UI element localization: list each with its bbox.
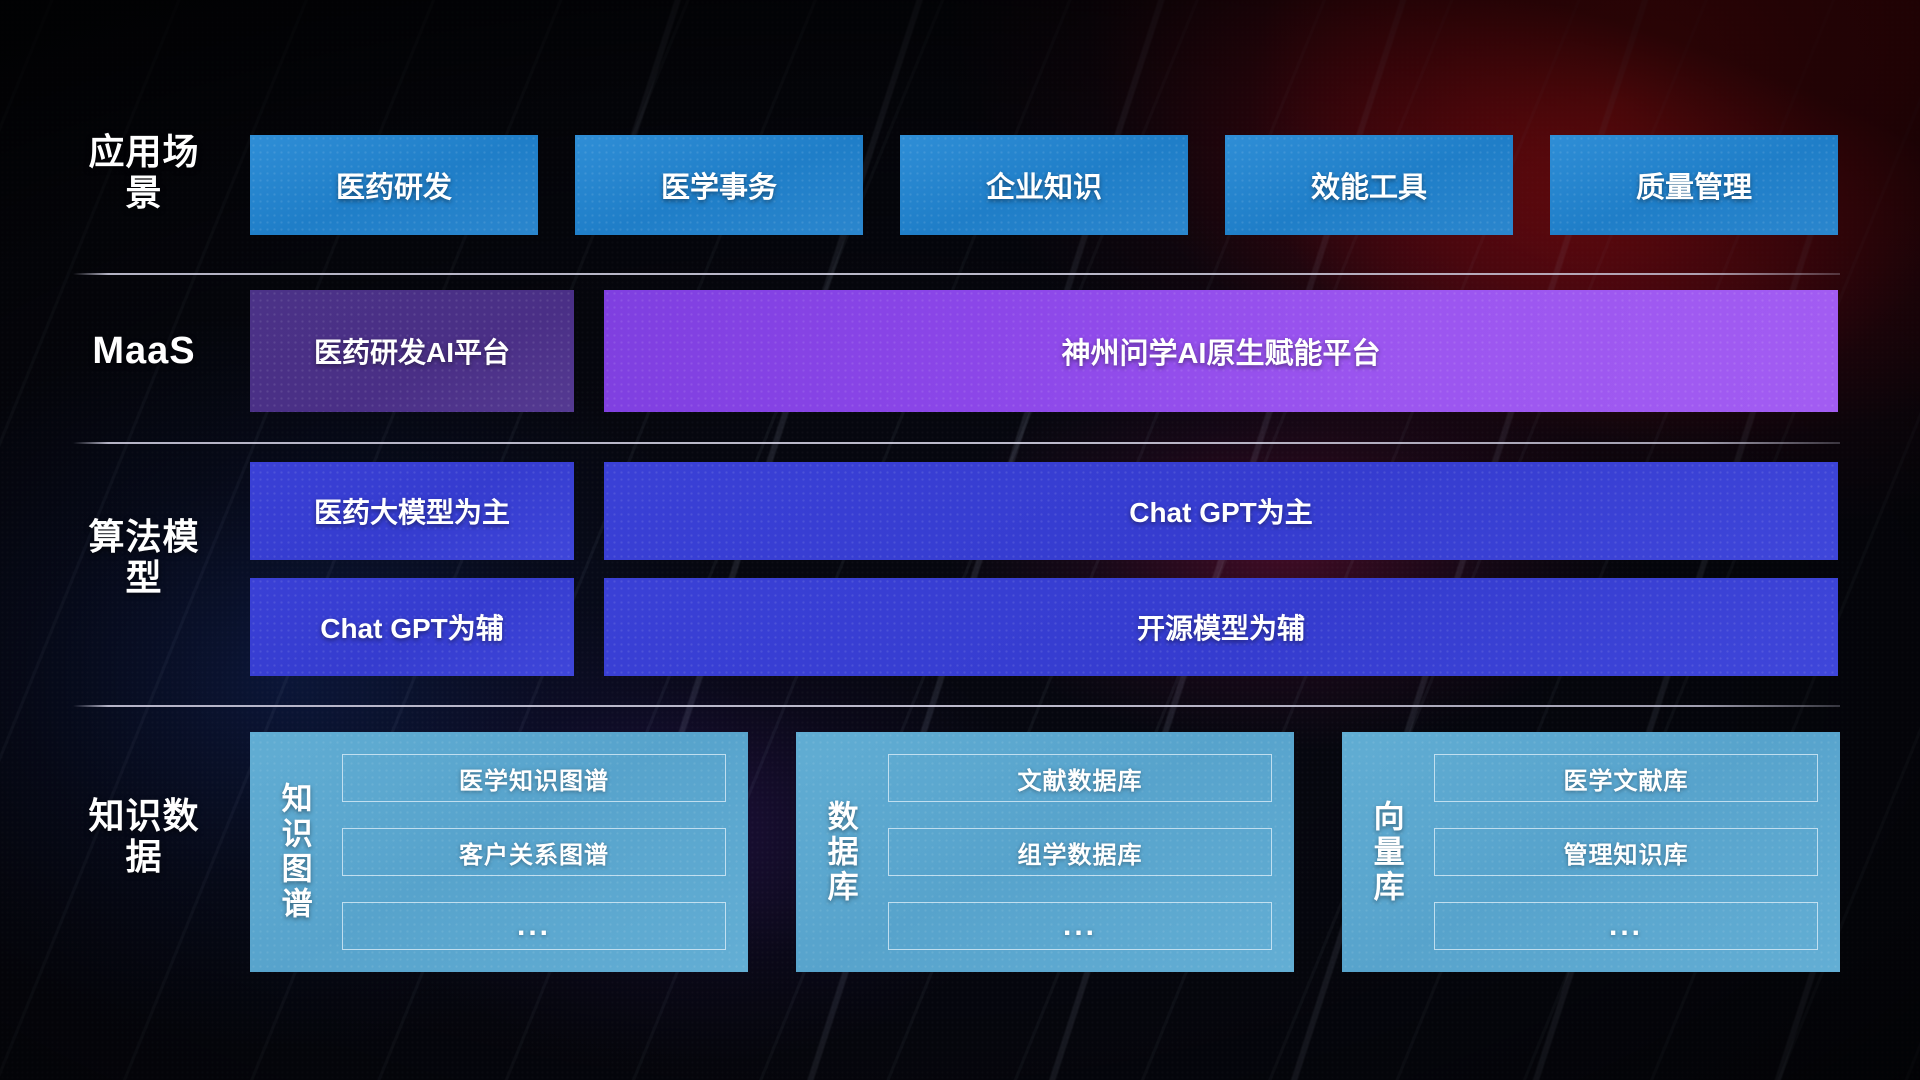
knowledge-group-title-vector-store: 向量库 [1342,732,1430,972]
algorithm-box-primary-left[interactable]: 医药大模型为主 [250,462,574,560]
app-scenario-label-4: 效能工具 [1311,164,1427,206]
algorithm-box-secondary-left[interactable]: Chat GPT为辅 [250,578,574,676]
divider-row-2 [73,442,1840,444]
app-scenario-box-1[interactable]: 医药研发 [250,135,538,235]
app-scenario-label-3: 企业知识 [986,164,1102,206]
maas-platform-box-enable[interactable]: 神州问学AI原生赋能平台 [604,290,1838,412]
knowledge-item-vec-2[interactable]: 管理知识库 [1434,828,1818,876]
app-scenario-box-2[interactable]: 医学事务 [575,135,863,235]
knowledge-item-kg-1[interactable]: 医学知识图谱 [342,754,726,802]
app-scenario-box-4[interactable]: 效能工具 [1225,135,1513,235]
app-scenario-label-1: 医药研发 [336,164,452,206]
algorithm-label-secondary-left: Chat GPT为辅 [320,607,504,647]
row-label-algorithm-model: 算法模型 [78,516,210,598]
knowledge-group-title-knowledge-graph: 知识图谱 [250,732,338,972]
architecture-diagram: 应用场景 医药研发 医学事务 企业知识 效能工具 质量管理 MaaS 医药研发A… [0,0,1920,1080]
algorithm-label-primary-left: 医药大模型为主 [314,491,510,531]
knowledge-group-items-database: 文献数据库 组学数据库 ... [884,732,1294,972]
divider-row-1 [73,273,1840,275]
app-scenario-label-5: 质量管理 [1636,164,1752,206]
app-scenario-label-2: 医学事务 [661,164,777,206]
knowledge-item-kg-3[interactable]: ... [342,902,726,950]
algorithm-box-primary-right[interactable]: Chat GPT为主 [604,462,1838,560]
maas-platform-box-rd[interactable]: 医药研发AI平台 [250,290,574,412]
app-scenario-box-5[interactable]: 质量管理 [1550,135,1838,235]
algorithm-label-secondary-right: 开源模型为辅 [1137,607,1305,647]
row-label-knowledge-data: 知识数据 [78,795,210,877]
knowledge-group-items-knowledge-graph: 医学知识图谱 客户关系图谱 ... [338,732,748,972]
knowledge-item-db-1[interactable]: 文献数据库 [888,754,1272,802]
knowledge-item-kg-2[interactable]: 客户关系图谱 [342,828,726,876]
row-label-application-scenarios: 应用场景 [78,131,210,213]
maas-platform-label-rd: 医药研发AI平台 [314,331,510,371]
app-scenario-box-3[interactable]: 企业知识 [900,135,1188,235]
knowledge-item-vec-3[interactable]: ... [1434,902,1818,950]
knowledge-item-vec-1[interactable]: 医学文献库 [1434,754,1818,802]
maas-platform-label-enable: 神州问学AI原生赋能平台 [1061,330,1380,372]
algorithm-label-primary-right: Chat GPT为主 [1129,491,1313,531]
algorithm-box-secondary-right[interactable]: 开源模型为辅 [604,578,1838,676]
knowledge-item-db-3[interactable]: ... [888,902,1272,950]
divider-row-3 [73,705,1840,707]
knowledge-group-items-vector-store: 医学文献库 管理知识库 ... [1430,732,1840,972]
row-label-maas: MaaS [78,330,210,373]
knowledge-group-database[interactable]: 数据库 文献数据库 组学数据库 ... [796,732,1294,972]
knowledge-group-vector-store[interactable]: 向量库 医学文献库 管理知识库 ... [1342,732,1840,972]
knowledge-group-title-database: 数据库 [796,732,884,972]
knowledge-item-db-2[interactable]: 组学数据库 [888,828,1272,876]
knowledge-group-knowledge-graph[interactable]: 知识图谱 医学知识图谱 客户关系图谱 ... [250,732,748,972]
